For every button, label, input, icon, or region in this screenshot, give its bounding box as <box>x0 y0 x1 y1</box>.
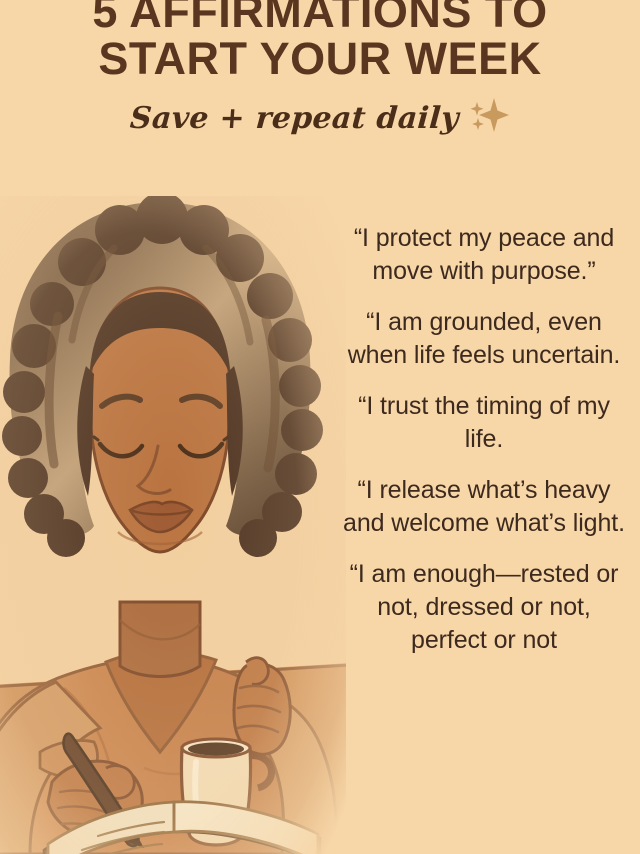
affirmations-poster: 5 AFFIRMATIONS TO START YOUR WEEK Save +… <box>0 0 640 854</box>
affirmation-item-5: “I am enough—rested or not, dressed or n… <box>336 558 632 657</box>
sparkle-icon <box>468 96 510 141</box>
subtitle-row: Save + repeat daily <box>0 96 640 141</box>
affirmation-item-1: “I protect my peace and move with purpos… <box>336 222 632 288</box>
page-title: 5 AFFIRMATIONS TO START YOUR WEEK <box>0 0 640 82</box>
poster-header: 5 AFFIRMATIONS TO START YOUR WEEK Save +… <box>0 0 640 141</box>
woman-journaling-illustration <box>0 196 346 854</box>
affirmation-item-3: “I trust the timing of my life. <box>336 390 632 456</box>
affirmations-list: “I protect my peace and move with purpos… <box>336 222 632 657</box>
poster-subtitle: Save + repeat daily <box>128 102 459 136</box>
affirmation-item-4: “I release what’s heavy and welcome what… <box>336 474 632 540</box>
affirmation-item-2: “I am grounded, even when life feels unc… <box>336 306 632 372</box>
